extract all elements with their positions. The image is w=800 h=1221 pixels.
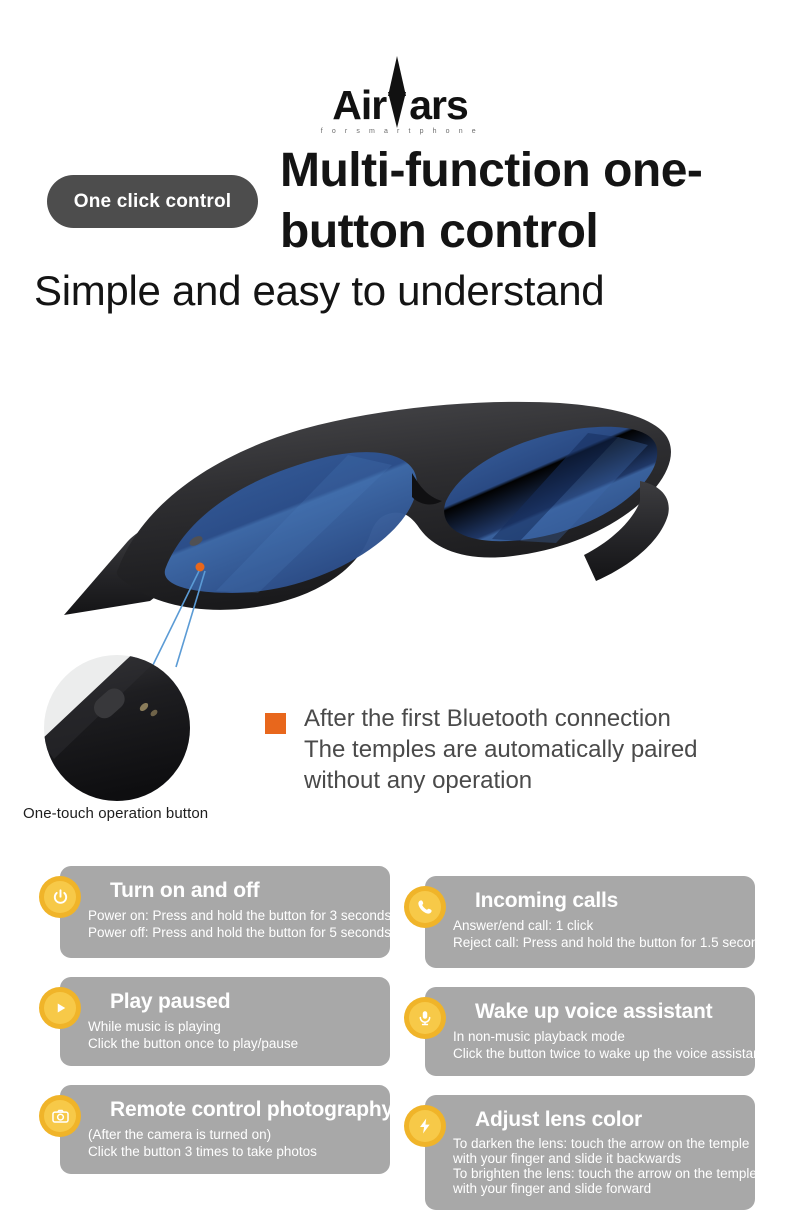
feature-column-left: Turn on and off Power on: Press and hold… [60, 866, 390, 1193]
lightning-icon [404, 1105, 446, 1147]
feature-body-line: To darken the lens: touch the arrow on t… [453, 1136, 745, 1151]
feature-title: Adjust lens color [475, 1108, 745, 1132]
brand-logo-wordmark: Air ars [332, 62, 468, 126]
feature-title: Incoming calls [475, 889, 745, 913]
feature-body-line: To brighten the lens: touch the arrow on… [453, 1166, 745, 1181]
product-marketing-page: Air ars f o r s m a r t p h o n e One cl… [0, 0, 800, 1221]
feature-body: While music is playing Click the button … [88, 1018, 380, 1053]
feature-card-voice-assistant: Wake up voice assistant In non-music pla… [425, 987, 755, 1076]
feature-body-line: Click the button once to play/pause [88, 1035, 380, 1052]
brand-tagline: f o r s m a r t p h o n e [321, 128, 479, 135]
feature-card-play-paused: Play paused While music is playing Click… [60, 977, 390, 1066]
feature-cards: Turn on and off Power on: Press and hold… [0, 866, 800, 1206]
feature-body-line: with your finger and slide it backwards [453, 1151, 745, 1166]
bluetooth-pairing-note: After the first Bluetooth connection The… [265, 703, 698, 797]
feature-card-turn-on-off: Turn on and off Power on: Press and hold… [60, 866, 390, 958]
feature-body-line: Power off: Press and hold the button for… [88, 924, 380, 941]
feature-body-line: In non-music playback mode [453, 1028, 745, 1045]
feature-body-line: Reject call: Press and hold the button f… [453, 934, 745, 951]
mars-spike-icon [382, 62, 412, 126]
button-zoom-callout [44, 655, 190, 801]
bluetooth-note-line-1: After the first Bluetooth connection [304, 703, 698, 734]
brand-name-left: Air [332, 85, 386, 126]
power-icon [39, 876, 81, 918]
feature-card-remote-photography: Remote control photography (After the ca… [60, 1085, 390, 1174]
feature-body: In non-music playback mode Click the but… [453, 1028, 745, 1063]
feature-body-line: Answer/end call: 1 click [453, 917, 745, 934]
orange-square-bullet-icon [265, 713, 286, 734]
feature-title: Remote control photography [110, 1098, 380, 1122]
feature-card-adjust-lens-color: Adjust lens color To darken the lens: to… [425, 1095, 755, 1210]
bluetooth-note-line-3: without any operation [304, 765, 698, 796]
feature-body: (After the camera is turned on) Click th… [88, 1126, 380, 1161]
bluetooth-note-line-2: The temples are automatically paired [304, 734, 698, 765]
feature-body: Power on: Press and hold the button for … [88, 907, 380, 942]
microphone-icon [404, 997, 446, 1039]
feature-body-line: Power on: Press and hold the button for … [88, 907, 380, 924]
callout-caption: One-touch operation button [23, 805, 208, 822]
feature-body-line: Click the button twice to wake up the vo… [453, 1045, 745, 1062]
brand-name-right: ars [409, 85, 468, 126]
feature-body: To darken the lens: touch the arrow on t… [453, 1136, 745, 1196]
camera-icon [39, 1095, 81, 1137]
feature-body: Answer/end call: 1 click Reject call: Pr… [453, 917, 745, 952]
play-icon [39, 987, 81, 1029]
smart-glasses-photo [0, 355, 800, 675]
phone-icon [404, 886, 446, 928]
feature-body-line: (After the camera is turned on) [88, 1126, 380, 1143]
feature-body-line: While music is playing [88, 1018, 380, 1035]
badge-label: One click control [74, 191, 232, 213]
page-subtitle: Simple and easy to understand [34, 266, 774, 316]
one-click-control-badge: One click control [47, 175, 258, 228]
headline-line-2: button control [280, 201, 780, 262]
feature-title: Play paused [110, 990, 380, 1014]
feature-title: Wake up voice assistant [475, 1000, 745, 1024]
feature-title: Turn on and off [110, 879, 380, 903]
page-title: Multi-function one- button control [280, 140, 780, 263]
bluetooth-note-text: After the first Bluetooth connection The… [304, 703, 698, 797]
brand-logo: Air ars f o r s m a r t p h o n e [0, 62, 800, 135]
feature-body-line: Click the button 3 times to take photos [88, 1143, 380, 1160]
headline-line-1: Multi-function one- [280, 140, 780, 201]
feature-column-right: Incoming calls Answer/end call: 1 click … [425, 876, 755, 1221]
feature-card-incoming-calls: Incoming calls Answer/end call: 1 click … [425, 876, 755, 968]
feature-body-line: with your finger and slide forward [453, 1181, 745, 1196]
